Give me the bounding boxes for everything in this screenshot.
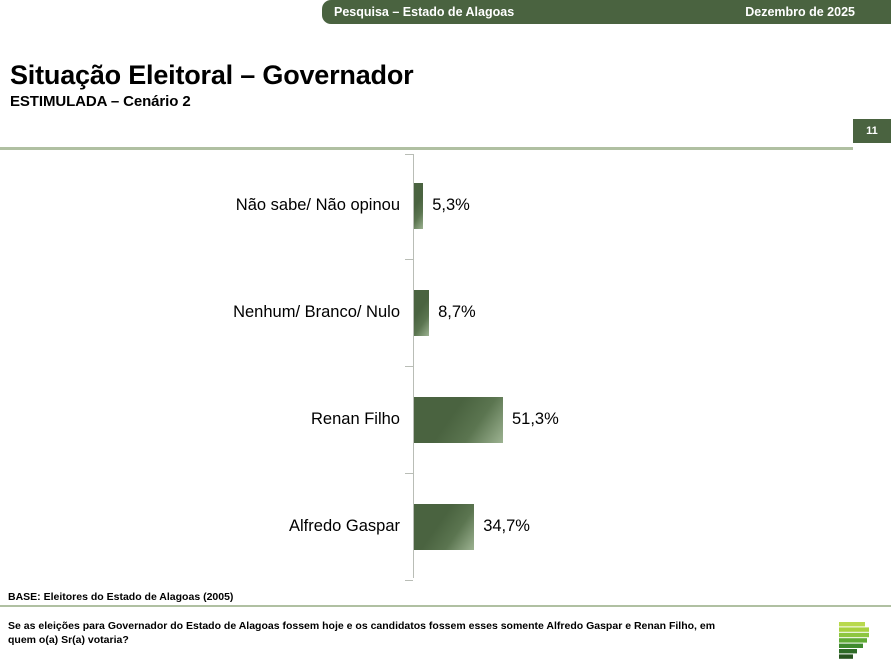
slide: Pesquisa – Estado de Alagoas Dezembro de…	[0, 0, 891, 667]
chart-value-label: 34,7%	[483, 517, 530, 536]
chart-value-label: 5,3%	[432, 196, 470, 215]
chart-bar	[414, 504, 474, 550]
chart-rows: Não sabe/ Não opinou5,3%Nenhum/ Branco/ …	[0, 152, 891, 580]
survey-question: Se as eleições para Governador do Estado…	[8, 619, 730, 647]
chart-bar-group: 5,3%	[414, 183, 470, 229]
header-band: Pesquisa – Estado de Alagoas Dezembro de…	[322, 0, 891, 24]
chart-category-label: Nenhum/ Branco/ Nulo	[10, 303, 400, 322]
page-number-badge: 11	[853, 119, 891, 143]
chart-category-label: Não sabe/ Não opinou	[10, 196, 400, 215]
chart-row: Nenhum/ Branco/ Nulo8,7%	[0, 259, 891, 366]
chart-axis-tick	[405, 473, 413, 474]
chart-axis-tick	[405, 259, 413, 260]
chart-value-label: 51,3%	[512, 410, 559, 429]
page-subtitle: ESTIMULADA – Cenário 2	[10, 93, 413, 110]
bar-chart: Não sabe/ Não opinou5,3%Nenhum/ Branco/ …	[0, 152, 891, 580]
green-bars-logo	[833, 619, 877, 663]
chart-axis-tick	[405, 366, 413, 367]
chart-category-label: Renan Filho	[10, 410, 400, 429]
footer-divider-rule	[0, 605, 891, 607]
chart-bar	[414, 397, 503, 443]
chart-value-label: 8,7%	[438, 303, 476, 322]
chart-bar-group: 51,3%	[414, 397, 559, 443]
title-block: Situação Eleitoral – Governador ESTIMULA…	[10, 60, 413, 110]
header-survey-label: Pesquisa – Estado de Alagoas	[334, 5, 514, 19]
chart-bar	[414, 183, 423, 229]
title-divider-rule	[0, 147, 853, 150]
chart-row: Renan Filho51,3%	[0, 366, 891, 473]
page-title: Situação Eleitoral – Governador	[10, 60, 413, 90]
chart-row: Não sabe/ Não opinou5,3%	[0, 152, 891, 259]
chart-category-label: Alfredo Gaspar	[10, 517, 400, 536]
chart-row: Alfredo Gaspar34,7%	[0, 473, 891, 580]
header-date-label: Dezembro de 2025	[745, 5, 855, 19]
chart-axis-tick	[405, 154, 413, 155]
chart-axis-tick	[405, 580, 413, 581]
chart-bar-group: 8,7%	[414, 290, 476, 336]
base-note: BASE: Eleitores do Estado de Alagoas (20…	[8, 591, 233, 603]
chart-bar	[414, 290, 429, 336]
chart-bar-group: 34,7%	[414, 504, 530, 550]
